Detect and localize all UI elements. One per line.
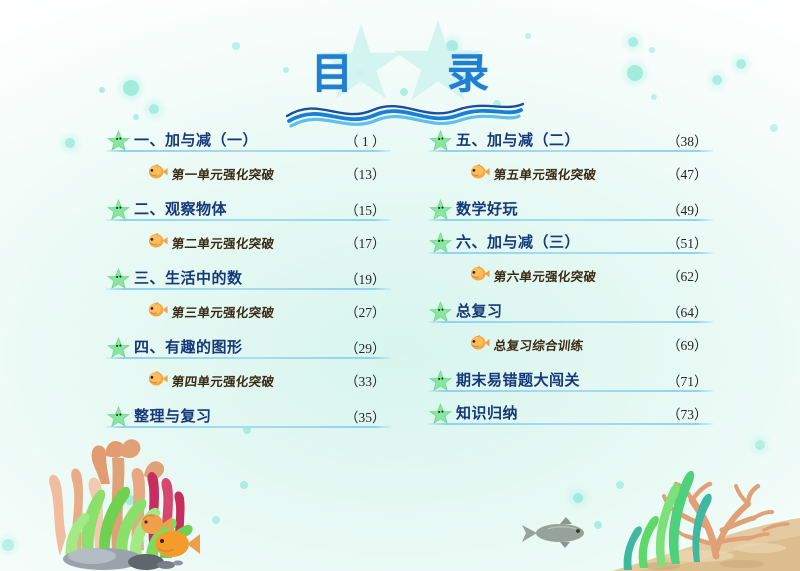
leader-dots: ········································… [247,350,341,352]
toc-page-number: （62） [667,265,713,285]
seaweed-right [624,471,712,570]
toc-page-number: （51） [667,232,713,252]
starfish-icon [428,369,453,392]
coral-left-pink [147,472,184,554]
starfish-icon [106,198,131,221]
rocks-left [63,548,183,570]
fish-icon [148,233,168,248]
toc-subentry-row[interactable]: 第六单元强化突破································… [428,263,713,285]
starfish-icon [106,129,131,152]
leader-dots: ········································… [278,314,341,316]
toc-entry-label: 二、观察物体 [134,198,227,219]
leader-dots: ········································… [600,278,663,280]
toc-entry-label: 三、生活中的数 [134,267,243,288]
toc-chapter-row[interactable]: 二、观察物体··································… [106,197,391,219]
toc-chapter-row[interactable]: 总复习·····································… [428,299,713,321]
toc-subentry-row[interactable]: 总复习综合训练·································… [428,332,713,354]
toc-entry-label: 总复习综合训练 [493,335,585,354]
fish-gray-right [522,517,584,548]
title-block: 目 录 [0,14,800,119]
bubble-icon [573,493,583,503]
fish-icon [148,302,168,318]
toc-entry-label: 知识归纳 [456,402,518,423]
bubble-icon [755,440,765,450]
fish-icon [148,371,168,386]
leader-dots: ········································… [600,176,663,178]
bubble-icon [125,495,135,505]
toc-row-rule [106,150,391,152]
toc-page: 目 录 一、加与减（一）····························… [0,0,800,571]
leader-dots: ········································… [584,245,663,247]
toc-row-rule [428,321,713,323]
toc-page-number: （17） [345,232,391,252]
toc-page-number: （13） [345,163,391,183]
leader-dots: ········································… [522,212,663,214]
toc-row-rule [106,219,391,221]
toc-page-number: （64） [667,301,713,321]
toc-entry-label: 第五单元强化突破 [493,164,597,183]
toc-row-rule [428,252,713,254]
toc-row-rule [428,423,713,425]
wave-divider-icon [285,90,525,132]
toc-column-right: 五、加与减（二）································… [428,128,713,434]
toc-page-number: （38） [667,130,713,150]
toc-row-rule [428,390,713,392]
toc-page-number: （35） [345,406,391,426]
leader-dots: ········································… [588,347,663,349]
toc-subentry-row[interactable]: 第二单元强化突破································… [106,230,391,252]
toc-row-rule [106,357,391,359]
starfish-icon [106,129,131,152]
toc-page-number: （27） [345,301,391,321]
toc-entry-label: 第六单元强化突破 [493,266,597,285]
starfish-icon [428,198,453,221]
fish-icon [470,335,490,351]
fish-icon [148,371,168,387]
toc-page-number: （47） [667,163,713,183]
bubble-icon [2,539,14,551]
toc-chapter-row[interactable]: 数学好玩····································… [428,197,713,219]
toc-page-number: （71） [667,370,713,390]
leader-dots: ········································… [584,383,663,385]
toc-column-left: 一、加与减（一）································… [106,128,391,437]
fish-icon [148,164,168,179]
fish-icon [148,233,168,249]
toc-entry-label: 第二单元强化突破 [171,233,275,252]
starfish-icon [106,336,131,359]
toc-chapter-row[interactable]: 四、有趣的图形·································… [106,335,391,357]
toc-page-number: （33） [345,370,391,390]
leader-dots: ········································… [216,419,341,421]
toc-row-rule [106,288,391,290]
toc-entry-label: 期末易错题大闯关 [456,369,580,390]
bubble-icon [240,481,248,489]
toc-page-number: （19） [345,268,391,288]
starfish-icon [428,129,453,152]
toc-subentry-row[interactable]: 第三单元强化突破································… [106,299,391,321]
toc-entry-label: 数学好玩 [456,198,518,219]
fish-icon [148,164,168,180]
toc-row-rule [428,219,713,221]
starfish-icon [428,231,453,254]
fish-small-orange-left [141,514,172,534]
toc-entry-label: 第四单元强化突破 [171,371,275,390]
fish-icon [470,164,490,180]
leader-dots: ········································… [278,176,341,178]
starfish-icon [428,300,453,323]
starfish-icon [106,267,131,290]
toc-chapter-row[interactable]: 一、加与减（一）································… [106,128,391,150]
toc-page-number: （73） [667,403,713,423]
toc-chapter-row[interactable]: 整理与复习···································… [106,404,391,426]
toc-subentry-row[interactable]: 第四单元强化突破································… [106,368,391,390]
starfish-icon [428,231,453,254]
leader-dots: ········································… [522,416,663,418]
toc-chapter-row[interactable]: 知识归纳····································… [428,401,713,423]
fish-icon [148,302,168,317]
toc-entry-label: 第三单元强化突破 [171,302,275,321]
bubble-icon [212,516,220,524]
bubble-icon [65,138,75,148]
toc-page-number: （29） [345,337,391,357]
leader-dots: ········································… [278,245,341,247]
toc-entry-label: 整理与复习 [134,405,212,426]
starfish-icon [428,402,453,425]
leader-dots: ········································… [231,212,341,214]
toc-page-number: （ 1 ） [345,130,391,150]
fish-large-orange-left [155,527,200,557]
starfish-icon [428,129,453,152]
leader-dots: ········································… [262,143,341,145]
fish-icon [470,335,490,350]
starfish-icon [106,198,131,221]
toc-entry-label: 总复习 [456,300,503,321]
bubble-icon [131,519,139,527]
toc-entry-label: 第一单元强化突破 [171,164,275,183]
fish-icon [470,266,490,282]
starfish-icon [428,369,453,392]
bubble-icon [770,124,778,132]
leader-dots: ········································… [247,281,341,283]
toc-entry-label: 一、加与减（一） [134,129,258,150]
toc-chapter-row[interactable]: 六、加与减（三）································… [428,230,713,252]
starfish-icon [106,405,131,428]
toc-page-number: （15） [345,199,391,219]
fish-icon [470,266,490,281]
coral-branching-right [664,484,788,556]
toc-entry-label: 六、加与减（三） [456,231,580,252]
starfish-icon [428,402,453,425]
toc-subentry-row[interactable]: 第一单元强化突破································… [106,161,391,183]
sand-floor-right [612,518,800,571]
seaweed-left [66,487,193,558]
bubble-icon [150,540,160,550]
coral-left-tan [49,439,164,556]
toc-chapter-row[interactable]: 三、生活中的数·································… [106,266,391,288]
leader-dots: ········································… [278,383,341,385]
leader-dots: ········································… [584,143,663,145]
starfish-icon [106,336,131,359]
starfish-icon [106,405,131,428]
toc-row-rule [428,150,713,152]
toc-entry-label: 五、加与减（二） [456,129,580,150]
toc-chapter-row[interactable]: 期末易错题大闯关································… [428,368,713,390]
leader-dots: ········································… [507,314,663,316]
toc-chapter-row[interactable]: 五、加与减（二）································… [428,128,713,150]
bubble-icon [594,521,602,529]
toc-entry-label: 四、有趣的图形 [134,336,243,357]
starfish-icon [428,198,453,221]
toc-page-number: （49） [667,199,713,219]
bubble-icon [616,481,624,489]
starfish-icon [428,300,453,323]
starfish-icon [106,267,131,290]
fish-icon [470,164,490,179]
toc-page-number: （69） [667,334,713,354]
toc-subentry-row[interactable]: 第五单元强化突破································… [428,161,713,183]
toc-row-rule [106,426,391,428]
